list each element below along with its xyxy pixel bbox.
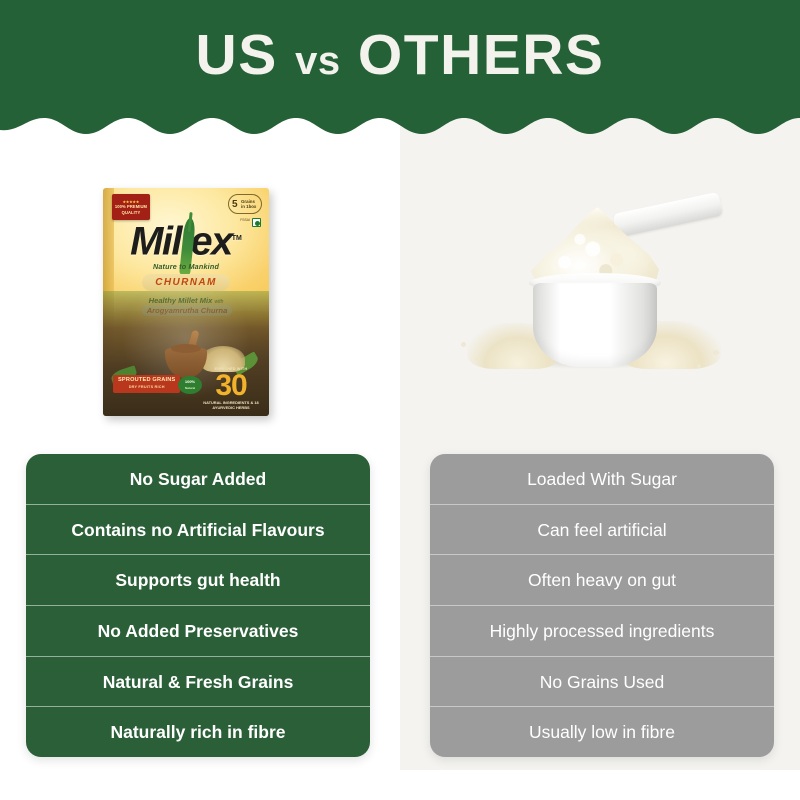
sprouted-grains-label: SPROUTED GRAINS (118, 377, 175, 383)
us-row: Supports gut health (26, 554, 370, 605)
five-grains-label: Grains in 1box (241, 199, 256, 209)
header-band: US vs OTHERS (0, 0, 800, 152)
product-visual-row: ★★★★★ 100% PREMIUM QUALITY 5 Grains in 1… (0, 155, 800, 445)
premium-quality-label: 100% PREMIUM QUALITY (115, 204, 147, 215)
five-grains-number: 5 (232, 199, 238, 210)
premium-quality-badge: ★★★★★ 100% PREMIUM QUALITY (112, 194, 150, 220)
others-drawbacks-panel: Loaded With Sugar Can feel artificial Of… (430, 454, 774, 757)
title-us: US (196, 23, 278, 87)
natural-badge: 100% Natural (178, 376, 202, 394)
page-title: US vs OTHERS (0, 22, 800, 94)
brand-tagline: Nature to Mankind (103, 262, 269, 271)
others-row: Can feel artificial (430, 504, 774, 555)
sprouted-grains-banner: SPROUTED GRAINS DRY FRUITS RICH (113, 375, 180, 393)
us-benefits-panel: No Sugar Added Contains no Artificial Fl… (26, 454, 370, 757)
us-row: Contains no Artificial Flavours (26, 504, 370, 555)
title-others: OTHERS (358, 23, 605, 87)
natural-percent: 100% (185, 379, 195, 384)
powder-crumb (713, 350, 719, 355)
title-vs: vs (295, 39, 341, 83)
others-row: Usually low in fibre (430, 706, 774, 757)
powder-crumb (461, 342, 466, 347)
us-row: Naturally rich in fibre (26, 706, 370, 757)
us-row: No Sugar Added (26, 454, 370, 504)
carton-ingredient-scene: SPROUTED GRAINS DRY FRUITS RICH 100% Nat… (103, 291, 269, 416)
others-row: Often heavy on gut (430, 554, 774, 605)
millex-product-carton: ★★★★★ 100% PREMIUM QUALITY 5 Grains in 1… (103, 188, 269, 416)
dry-fruits-label: DRY FRUITS RICH (118, 384, 175, 391)
ingredient-count-number: 30 (200, 372, 262, 400)
powder-crumb (697, 364, 701, 368)
natural-label: Natural (178, 385, 202, 391)
comparison-infographic: US vs OTHERS ★★★★★ 100% PREMIUM QUALITY … (0, 0, 800, 800)
ingredient-count-block: ENRICHED WITH 30 NATURAL INGREDIENTS & 1… (200, 367, 262, 410)
others-row: Loaded With Sugar (430, 454, 774, 504)
competitor-scoop-image (455, 190, 725, 385)
scoop-cup (533, 283, 657, 367)
powder-crumb (475, 357, 479, 361)
trademark-mark: TM (232, 235, 242, 242)
others-row: No Grains Used (430, 656, 774, 707)
others-row: Highly processed ingredients (430, 605, 774, 656)
ingredient-count-description: NATURAL INGREDIENTS & 18 AYURVEDIC HERBS (200, 400, 262, 410)
us-row: Natural & Fresh Grains (26, 656, 370, 707)
five-grains-badge: 5 Grains in 1box (228, 194, 262, 214)
variant-name: CHURNAM (142, 274, 230, 291)
us-row: No Added Preservatives (26, 605, 370, 656)
